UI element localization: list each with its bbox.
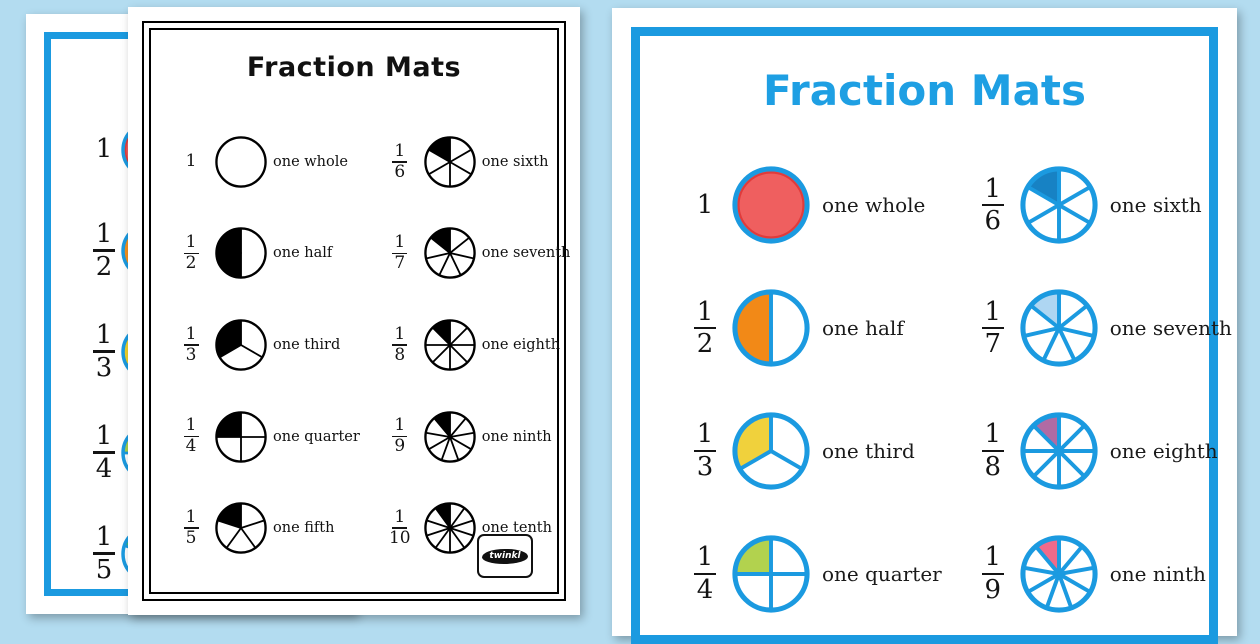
fraction-name-label: one eighth <box>482 337 560 353</box>
fraction-row[interactable]: 17one seventh <box>942 267 1232 390</box>
fraction-row[interactable]: 14one quarter <box>151 391 360 483</box>
sheet-black-white[interactable]: Fraction Mats 1one whole12one half13one … <box>128 7 580 615</box>
fraction-circle <box>215 411 267 463</box>
fraction-numerator: 1 <box>394 326 405 343</box>
fraction-row[interactable]: 12one half <box>640 267 942 390</box>
fraction-numerator: 1 <box>697 192 714 219</box>
fraction-circle <box>424 227 476 279</box>
fraction-circle <box>732 289 810 367</box>
fraction-denominator: 9 <box>394 438 405 455</box>
fraction-name-label: one sixth <box>1110 193 1202 217</box>
fraction-name-label: one third <box>273 337 340 353</box>
fraction-numerator: 1 <box>186 153 197 170</box>
fraction-name-label: one seventh <box>482 245 571 261</box>
bw-columns: 1one whole12one half13one third14one qua… <box>151 108 557 574</box>
fraction-circle <box>215 136 267 188</box>
fraction-label: 16 <box>968 176 1018 235</box>
fraction-label: 1 <box>680 192 730 219</box>
fraction-denominator: 9 <box>984 577 1001 604</box>
fraction-name-label: one half <box>273 245 332 261</box>
fraction-name-label: one quarter <box>822 562 942 586</box>
fraction-circle <box>424 411 476 463</box>
fraction-denominator: 6 <box>394 164 405 181</box>
fraction-label: 12 <box>173 234 209 272</box>
fraction-name-label: one half <box>822 316 904 340</box>
fraction-circle <box>215 227 267 279</box>
fraction-numerator: 1 <box>96 136 113 163</box>
fraction-name-label: one sixth <box>482 154 549 170</box>
fraction-row[interactable]: 19one ninth <box>368 391 571 483</box>
fraction-row[interactable]: 16one sixth <box>368 116 571 208</box>
fraction-circle <box>732 166 810 244</box>
bw-outer-border: Fraction Mats 1one whole12one half13one … <box>142 21 566 601</box>
fraction-row[interactable]: 18one eighth <box>942 390 1232 513</box>
fraction-numerator: 1 <box>984 544 1001 571</box>
fraction-denominator: 5 <box>186 530 197 547</box>
fraction-label: 110 <box>382 509 418 547</box>
fraction-numerator: 1 <box>697 421 714 448</box>
bw-column-left: 1one whole12one half13one third14one qua… <box>151 108 360 574</box>
fraction-label: 13 <box>173 326 209 364</box>
shaded-segment <box>735 292 771 364</box>
colour-column-right: 16one sixth17one seventh18one eighth19on… <box>942 144 1232 635</box>
fraction-label: 19 <box>382 417 418 455</box>
fraction-label: 16 <box>382 143 418 181</box>
fraction-circle <box>424 136 476 188</box>
fraction-label: 13 <box>87 322 121 381</box>
fraction-row[interactable]: 19one ninth <box>942 512 1232 635</box>
fraction-row[interactable]: 13one third <box>640 390 942 513</box>
fraction-circle <box>1020 166 1098 244</box>
colour-columns: 1one whole12one half13one third14one qua… <box>640 144 1209 635</box>
fraction-numerator: 1 <box>96 322 113 349</box>
fraction-row[interactable]: 1one whole <box>151 116 360 208</box>
fraction-numerator: 1 <box>697 299 714 326</box>
fraction-row[interactable]: 12one half <box>151 208 360 300</box>
fraction-circle <box>424 502 476 554</box>
fraction-numerator: 1 <box>186 326 197 343</box>
fraction-numerator: 1 <box>984 421 1001 448</box>
bw-page-title: Fraction Mats <box>151 52 557 83</box>
fraction-row[interactable]: 15one fifth <box>151 482 360 574</box>
fraction-row[interactable]: 110one tenth <box>368 482 571 574</box>
sheet-right-frame: Fraction Mats 1one whole12one half13one … <box>631 27 1218 644</box>
fraction-row[interactable]: 17one seventh <box>368 208 571 300</box>
fraction-label: 18 <box>968 421 1018 480</box>
fraction-name-label: one fifth <box>273 520 334 536</box>
fraction-numerator: 1 <box>984 176 1001 203</box>
fraction-denominator: 2 <box>96 254 113 281</box>
fraction-denominator: 2 <box>697 331 714 358</box>
fraction-label: 1 <box>87 136 121 163</box>
fraction-numerator: 1 <box>186 417 197 434</box>
fraction-label: 14 <box>680 544 730 603</box>
fraction-denominator: 6 <box>984 208 1001 235</box>
fraction-name-label: one quarter <box>273 429 360 445</box>
bw-inner-border: Fraction Mats 1one whole12one half13one … <box>149 28 559 594</box>
fraction-numerator: 1 <box>697 544 714 571</box>
fraction-denominator: 8 <box>984 454 1001 481</box>
fraction-label: 17 <box>382 234 418 272</box>
fraction-denominator: 4 <box>186 438 197 455</box>
fraction-numerator: 1 <box>186 509 197 526</box>
fraction-circle <box>732 535 810 613</box>
fraction-denominator: 3 <box>697 454 714 481</box>
sheet-colour-main[interactable]: Fraction Mats 1one whole12one half13one … <box>612 8 1237 636</box>
fraction-circle <box>424 319 476 371</box>
fraction-label: 15 <box>173 509 209 547</box>
fraction-denominator: 4 <box>697 577 714 604</box>
fraction-denominator: 3 <box>96 355 113 382</box>
fraction-numerator: 1 <box>394 417 405 434</box>
colour-page-title: Fraction Mats <box>640 66 1209 115</box>
fraction-circle <box>215 319 267 371</box>
fraction-circle <box>732 412 810 490</box>
fraction-numerator: 1 <box>96 423 113 450</box>
fraction-denominator: 7 <box>394 255 405 272</box>
fraction-name-label: one eighth <box>1110 439 1218 463</box>
fraction-label: 14 <box>87 423 121 482</box>
fraction-label: 12 <box>87 221 121 280</box>
fraction-label: 1 <box>173 153 209 170</box>
fraction-row[interactable]: 16one sixth <box>942 144 1232 267</box>
twinkl-logo-text: twinkl <box>482 549 527 564</box>
fraction-denominator: 10 <box>389 530 411 547</box>
fraction-name-label: one whole <box>273 154 348 170</box>
twinkl-logo: twinkl <box>477 534 533 578</box>
fraction-label: 14 <box>173 417 209 455</box>
fraction-denominator: 5 <box>96 557 113 584</box>
fraction-label: 13 <box>680 421 730 480</box>
shaded-segment <box>216 229 241 278</box>
fraction-row[interactable]: 1one whole <box>640 144 942 267</box>
bw-column-right: 16one sixth17one seventh18one eighth19on… <box>360 108 571 574</box>
fraction-label: 19 <box>968 544 1018 603</box>
fraction-numerator: 1 <box>394 509 405 526</box>
fraction-label: 17 <box>968 299 1018 358</box>
fraction-circle <box>1020 535 1098 613</box>
fraction-numerator: 1 <box>984 299 1001 326</box>
fraction-numerator: 1 <box>96 221 113 248</box>
fraction-denominator: 3 <box>186 347 197 364</box>
fraction-label: 15 <box>87 524 121 583</box>
fraction-name-label: one whole <box>822 193 925 217</box>
fraction-row[interactable]: 18one eighth <box>368 299 571 391</box>
fraction-numerator: 1 <box>394 143 405 160</box>
fraction-numerator: 1 <box>394 234 405 251</box>
fraction-label: 18 <box>382 326 418 364</box>
fraction-circle <box>1020 289 1098 367</box>
fraction-name-label: one third <box>822 439 915 463</box>
fraction-name-label: one ninth <box>482 429 552 445</box>
fraction-numerator: 1 <box>96 524 113 551</box>
fraction-label: 12 <box>680 299 730 358</box>
fraction-numerator: 1 <box>186 234 197 251</box>
fraction-name-label: one seventh <box>1110 316 1232 340</box>
fraction-denominator: 2 <box>186 255 197 272</box>
fraction-name-label: one ninth <box>1110 562 1206 586</box>
fraction-denominator: 7 <box>984 331 1001 358</box>
fraction-row[interactable]: 14one quarter <box>640 512 942 635</box>
fraction-circle <box>1020 412 1098 490</box>
fraction-denominator: 4 <box>96 456 113 483</box>
fraction-circle <box>215 502 267 554</box>
fraction-denominator: 8 <box>394 347 405 364</box>
fraction-row[interactable]: 13one third <box>151 299 360 391</box>
colour-column-left: 1one whole12one half13one third14one qua… <box>640 144 942 635</box>
